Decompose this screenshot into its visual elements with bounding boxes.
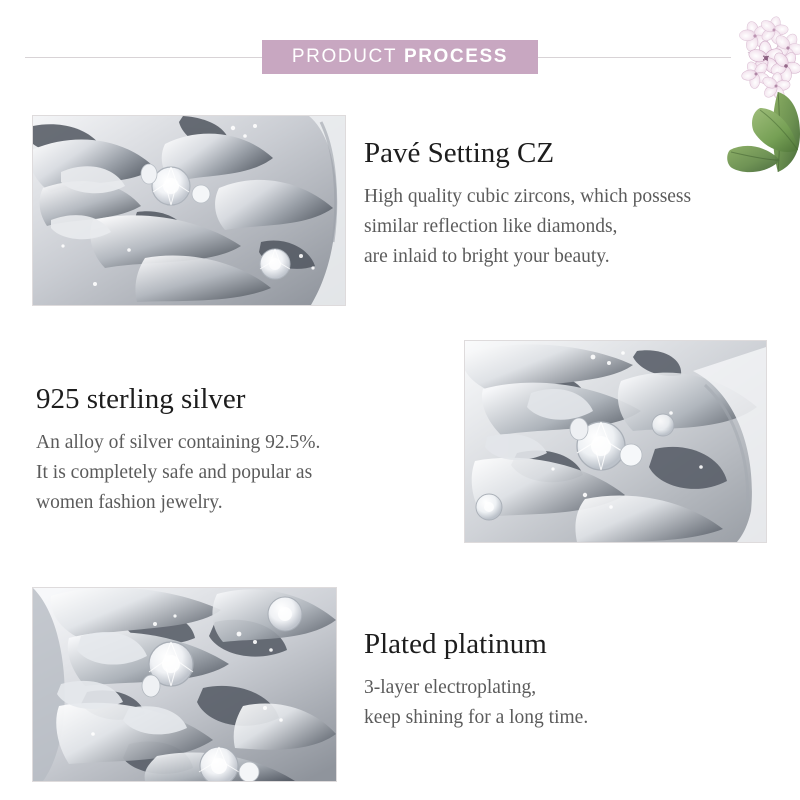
feature-body-line: keep shining for a long time. bbox=[364, 703, 764, 733]
feature-title-pave: Pavé Setting CZ bbox=[364, 137, 764, 170]
feature-block-plated-platinum: Plated platinum 3-layer electroplating, … bbox=[364, 628, 764, 733]
feature-body-line: similar reflection like diamonds, bbox=[364, 212, 764, 242]
feature-body-line: An alloy of silver containing 92.5%. bbox=[36, 428, 436, 458]
product-image-sterling-silver bbox=[464, 340, 767, 543]
page-header: PRODUCT PROCESS bbox=[0, 0, 800, 110]
feature-body-line: 3-layer electroplating, bbox=[364, 673, 764, 703]
feature-title-sterling-silver: 925 sterling silver bbox=[36, 383, 436, 416]
feature-block-sterling-silver: 925 sterling silver An alloy of silver c… bbox=[36, 383, 436, 517]
feature-body-line: are inlaid to bright your beauty. bbox=[364, 242, 764, 272]
banner-label-bold: PROCESS bbox=[404, 46, 508, 67]
banner-label-light: PRODUCT bbox=[292, 46, 397, 67]
feature-body-line: It is completely safe and popular as bbox=[36, 458, 436, 488]
header-rule-right bbox=[538, 57, 731, 58]
feature-body-pave: High quality cubic zircons, which posses… bbox=[364, 182, 764, 271]
section-title-banner: PRODUCT PROCESS bbox=[262, 40, 538, 74]
feature-body-plated-platinum: 3-layer electroplating, keep shining for… bbox=[364, 673, 764, 732]
feature-block-pave: Pavé Setting CZ High quality cubic zirco… bbox=[364, 137, 764, 271]
product-image-pave bbox=[32, 115, 346, 306]
feature-body-line: women fashion jewelry. bbox=[36, 488, 436, 518]
header-rule-left bbox=[25, 57, 263, 58]
product-image-plated-platinum bbox=[32, 587, 337, 782]
banner-label: PRODUCT PROCESS bbox=[292, 46, 508, 68]
feature-body-line: High quality cubic zircons, which posses… bbox=[364, 182, 764, 212]
feature-body-sterling-silver: An alloy of silver containing 92.5%. It … bbox=[36, 428, 436, 517]
feature-title-plated-platinum: Plated platinum bbox=[364, 628, 764, 661]
